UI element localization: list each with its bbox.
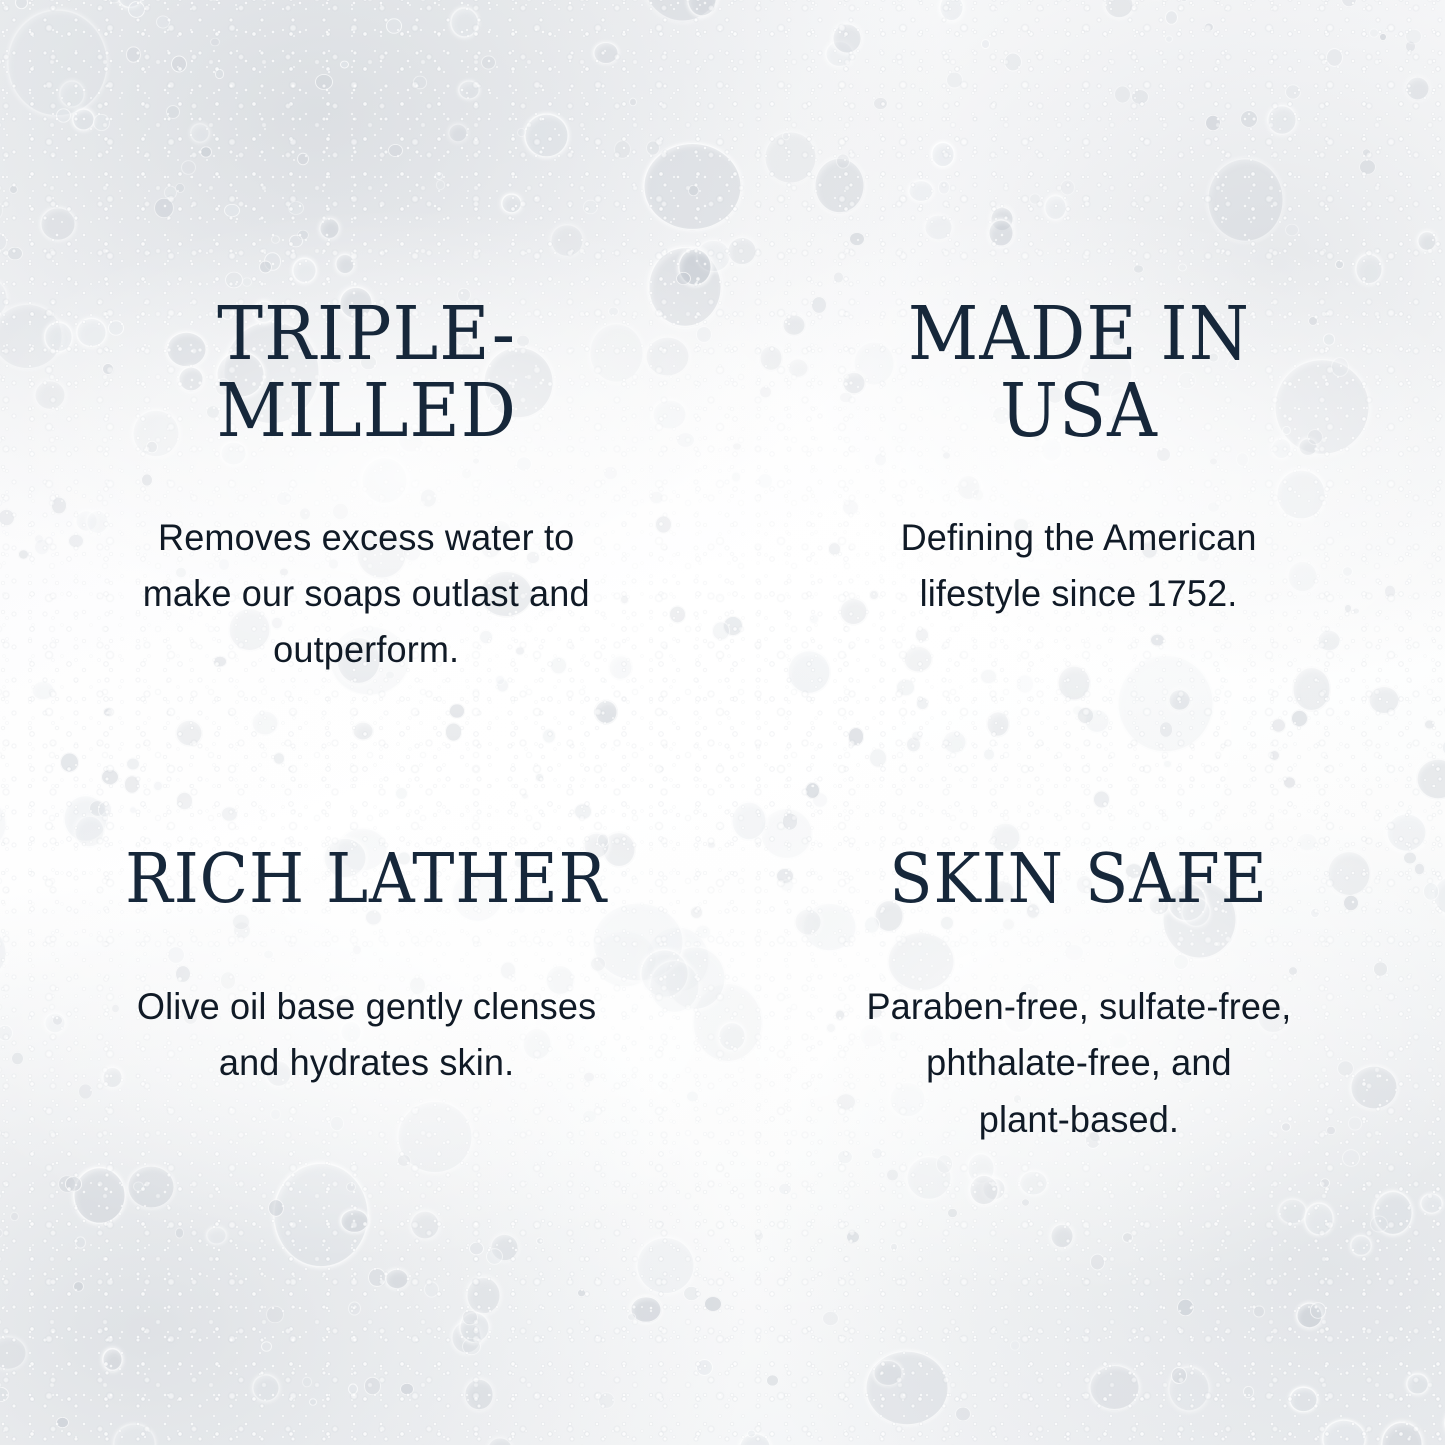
feature-block-rich-lather: RICH LATHER Olive oil base gently clense… <box>0 723 723 1445</box>
feature-description-made-in-usa: Defining the American lifestyle since 17… <box>901 510 1257 622</box>
feature-description-skin-safe: Paraben-free, sulfate-free, phthalate-fr… <box>866 979 1291 1148</box>
feature-title-skin-safe: SKIN SAFE <box>889 845 1268 916</box>
soap-feature-poster: TRIPLE- MILLED Removes excess water to m… <box>0 0 1445 1445</box>
feature-description-rich-lather: Olive oil base gently clenses and hydrat… <box>137 979 596 1091</box>
feature-title-triple-milled: TRIPLE- MILLED <box>216 296 517 450</box>
feature-grid: TRIPLE- MILLED Removes excess water to m… <box>0 0 1445 1445</box>
feature-block-skin-safe: SKIN SAFE Paraben-free, sulfate-free, ph… <box>723 723 1445 1445</box>
feature-block-triple-milled: TRIPLE- MILLED Removes excess water to m… <box>0 0 723 723</box>
feature-title-rich-lather: RICH LATHER <box>125 845 607 916</box>
feature-title-made-in-usa: MADE IN USA <box>908 296 1250 450</box>
feature-description-triple-milled: Removes excess water to make our soaps o… <box>143 510 590 679</box>
feature-block-made-in-usa: MADE IN USA Defining the American lifest… <box>723 0 1445 723</box>
